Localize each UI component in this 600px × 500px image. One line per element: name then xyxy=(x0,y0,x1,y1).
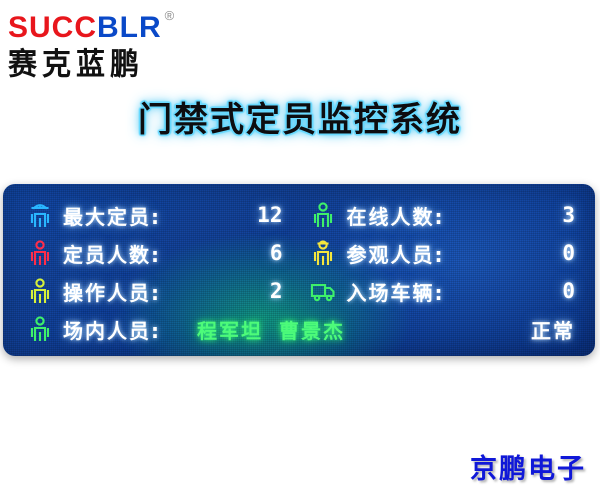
led-row: 最大定员: 12 在线人数: 3 xyxy=(27,196,581,234)
person-icon xyxy=(27,276,53,306)
led-display-panel: 最大定员: 12 在线人数: 3 xyxy=(3,184,595,356)
logo-latin-blue: BLR xyxy=(97,11,162,44)
led-cell-operator-count: 操作人员: 2 xyxy=(27,272,310,310)
list-item: 程军坦 xyxy=(197,315,263,344)
led-label: 在线人数: xyxy=(346,201,444,230)
person-cap-icon xyxy=(310,238,336,268)
led-value: 3 xyxy=(562,203,575,227)
led-row-onsite-personnel: 场内人员: 程军坦 曹景杰 正常 xyxy=(27,310,581,348)
led-cell-visitor-count: 参观人员: 0 xyxy=(310,234,581,272)
led-value: 12 xyxy=(257,203,282,227)
led-label: 定员人数: xyxy=(63,239,161,268)
company-logo: SUCCBLR® 赛克蓝鹏 xyxy=(8,6,248,80)
logo-chinese-text: 赛克蓝鹏 xyxy=(8,46,248,82)
person-icon xyxy=(27,314,53,344)
footer-company-name: 京鹏电子 xyxy=(470,447,586,486)
led-cell-vehicle-count: 入场车辆: 0 xyxy=(310,272,581,310)
person-icon xyxy=(27,238,53,268)
led-value: 0 xyxy=(562,241,575,265)
led-cell-max-capacity: 最大定员: 12 xyxy=(27,196,310,234)
list-item: 曹景杰 xyxy=(279,315,345,344)
led-label: 场内人员: xyxy=(63,315,161,344)
led-label: 最大定员: xyxy=(63,201,161,230)
led-label: 参观人员: xyxy=(346,239,444,268)
status-badge: 正常 xyxy=(531,310,575,348)
registered-trademark-icon: ® xyxy=(165,8,176,23)
logo-latin-text: SUCCBLR® xyxy=(8,6,248,44)
person-icon xyxy=(310,200,336,230)
logo-latin-red: SUCC xyxy=(8,11,97,44)
led-row: 操作人员: 2 入场车辆: 0 xyxy=(27,272,581,310)
led-row: 定员人数: 6 参观人员: 0 xyxy=(27,234,581,272)
page-title: 门禁式定员监控系统 xyxy=(0,92,600,141)
led-cell-online-count: 在线人数: 3 xyxy=(310,196,581,234)
onsite-name-list: 程军坦 曹景杰 xyxy=(197,310,345,348)
truck-icon xyxy=(310,276,336,306)
led-label: 入场车辆: xyxy=(346,277,444,306)
led-value: 2 xyxy=(270,279,283,303)
led-label: 操作人员: xyxy=(63,277,161,306)
led-value: 0 xyxy=(562,279,575,303)
led-cell-assigned-count: 定员人数: 6 xyxy=(27,234,310,272)
person-hardhat-icon xyxy=(27,200,53,230)
led-value: 6 xyxy=(270,241,283,265)
